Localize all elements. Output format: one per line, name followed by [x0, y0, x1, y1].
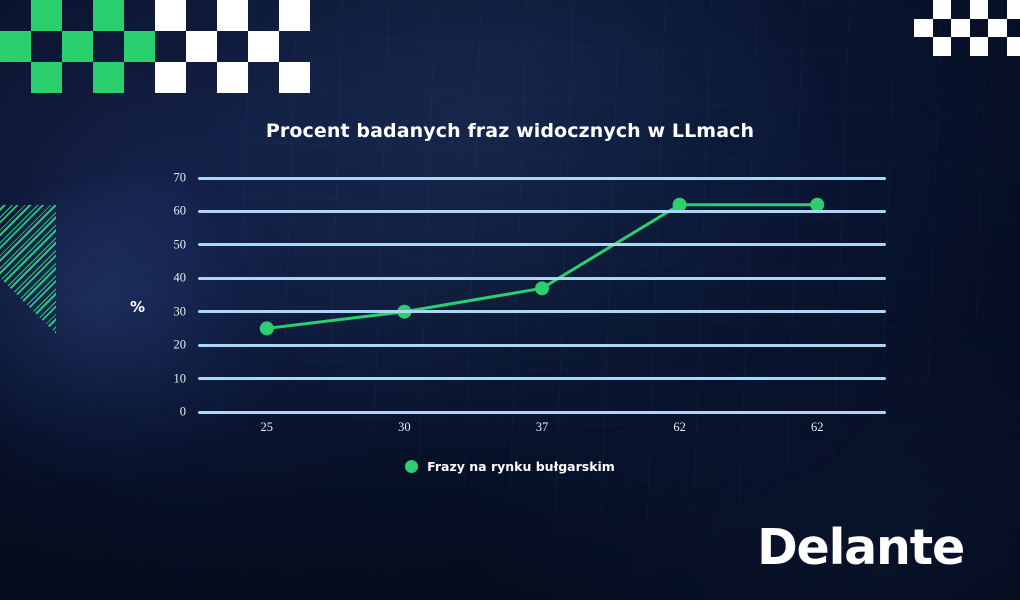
checker-square	[124, 31, 155, 62]
checker-square	[279, 62, 310, 93]
legend-marker-icon	[405, 460, 418, 473]
checker-square	[31, 0, 62, 31]
checker-square	[93, 62, 124, 93]
y-axis-tick-label: 40	[174, 271, 187, 286]
checker-square	[1007, 37, 1020, 56]
delante-logo: Delante	[757, 523, 964, 572]
gridline	[198, 310, 886, 313]
gridline	[198, 277, 886, 280]
y-axis-tick-label: 10	[174, 371, 187, 386]
gridline	[198, 344, 886, 347]
chart-plot-area: 0102030405060702530376262	[198, 178, 886, 412]
y-axis-tick-label: 20	[174, 338, 187, 353]
y-axis-tick-label: 30	[174, 304, 187, 319]
y-axis-tick-label: 50	[174, 237, 187, 252]
y-axis-tick-label: 70	[174, 171, 187, 186]
checker-square	[217, 62, 248, 93]
checker-square	[248, 31, 279, 62]
checker-square	[933, 0, 952, 19]
checker-square	[186, 31, 217, 62]
diagonal-stripes-decoration	[0, 205, 56, 397]
checker-square	[914, 19, 933, 38]
checker-square	[279, 0, 310, 31]
checker-square	[970, 37, 989, 56]
checker-square	[970, 0, 989, 19]
gridline	[198, 243, 886, 246]
checker-square	[31, 62, 62, 93]
checker-square	[155, 62, 186, 93]
y-axis-tick-label: 0	[180, 405, 186, 420]
checker-square	[62, 31, 93, 62]
checker-square	[1007, 0, 1020, 19]
checker-square	[933, 37, 952, 56]
checker-square	[155, 0, 186, 31]
checker-square	[93, 0, 124, 31]
x-axis-tick-label: 62	[673, 420, 686, 435]
checker-square	[0, 31, 31, 62]
data-point-marker[interactable]	[260, 321, 274, 335]
checker-square	[217, 0, 248, 31]
x-axis-tick-label: 30	[398, 420, 411, 435]
gridline	[198, 177, 886, 180]
checkerboard-decoration-top-right	[914, 0, 1020, 56]
gridline	[198, 210, 886, 213]
chart-title: Procent badanych fraz widocznych w LLmac…	[0, 120, 1020, 142]
checker-square	[951, 19, 970, 38]
gridline	[198, 411, 886, 414]
x-axis-tick-label: 62	[811, 420, 824, 435]
y-axis-tick-label: 60	[174, 204, 187, 219]
x-axis-tick-label: 37	[536, 420, 549, 435]
data-point-marker[interactable]	[535, 281, 549, 295]
checker-square	[988, 19, 1007, 38]
y-axis-unit-label: %	[130, 298, 145, 316]
legend-label: Frazy na rynku bułgarskim	[427, 459, 615, 474]
chart-legend: Frazy na rynku bułgarskim	[0, 459, 1020, 474]
x-axis-tick-label: 25	[261, 420, 274, 435]
gridline	[198, 377, 886, 380]
